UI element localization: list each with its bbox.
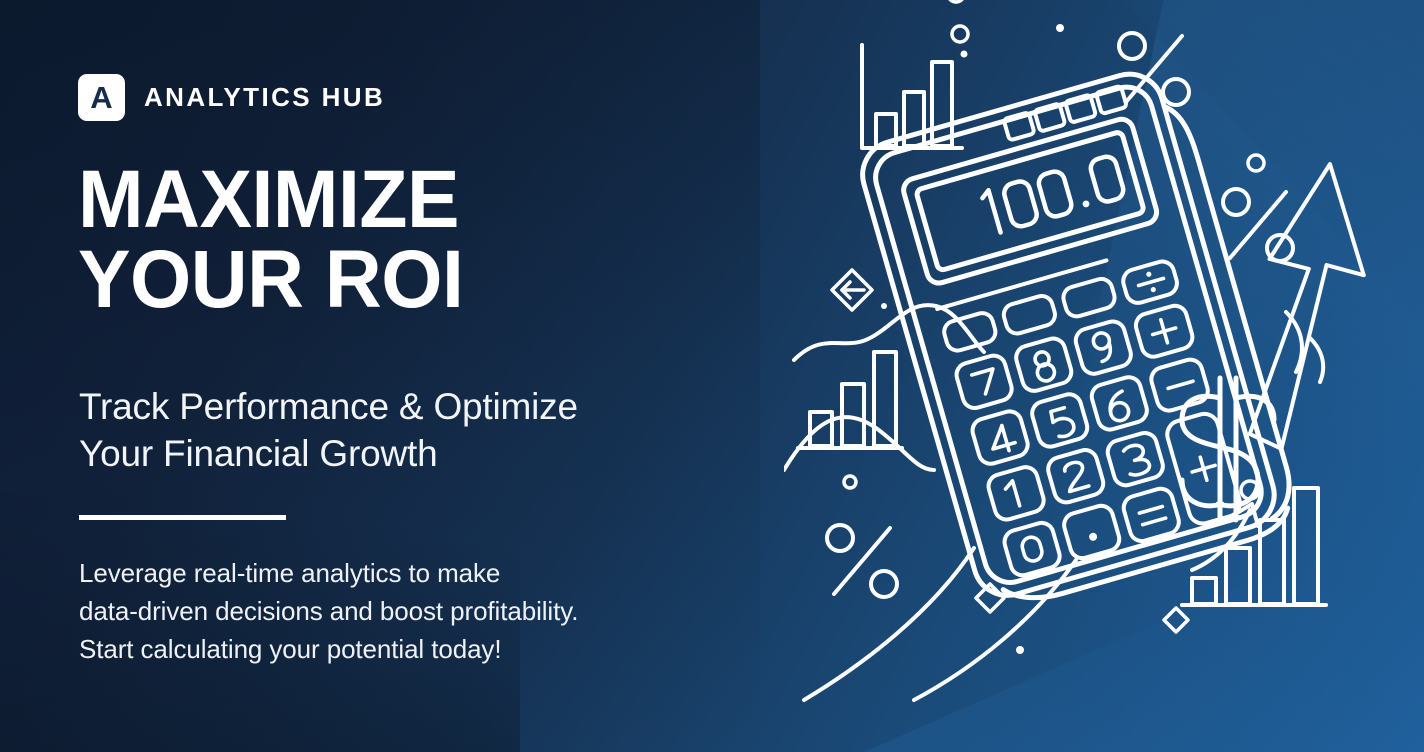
- calculator-top-row-keys: [942, 276, 1118, 353]
- hero-banner: A ANALYTICS HUB MAXIMIZE YOUR ROI Track …: [0, 0, 1424, 752]
- body-copy: Leverage real-time analytics to make dat…: [79, 554, 578, 669]
- logo-letter: A: [90, 82, 112, 113]
- calculator-keypad: [954, 319, 1182, 578]
- calculator-body: [855, 61, 1303, 615]
- calculator-illustration: [784, 0, 1424, 752]
- page-title: MAXIMIZE YOUR ROI: [78, 160, 463, 321]
- calculator-operator-keys: [1120, 259, 1243, 527]
- percent-icon-mid-right: [1223, 189, 1293, 261]
- percent-icon-bottom-left: [827, 525, 897, 597]
- brand-name: ANALYTICS HUB: [144, 82, 385, 113]
- subheadline: Track Performance & Optimize Your Financ…: [79, 383, 578, 478]
- brand-lockup: A ANALYTICS HUB: [78, 74, 385, 121]
- hero-content: A ANALYTICS HUB MAXIMIZE YOUR ROI Track …: [78, 0, 778, 752]
- percent-icon-top-right: [1119, 33, 1189, 105]
- divider-rule: [79, 515, 286, 520]
- diamond-arrow-icon: [832, 270, 872, 310]
- growth-arrow-icon: [1223, 162, 1381, 452]
- logo-icon: A: [78, 74, 125, 121]
